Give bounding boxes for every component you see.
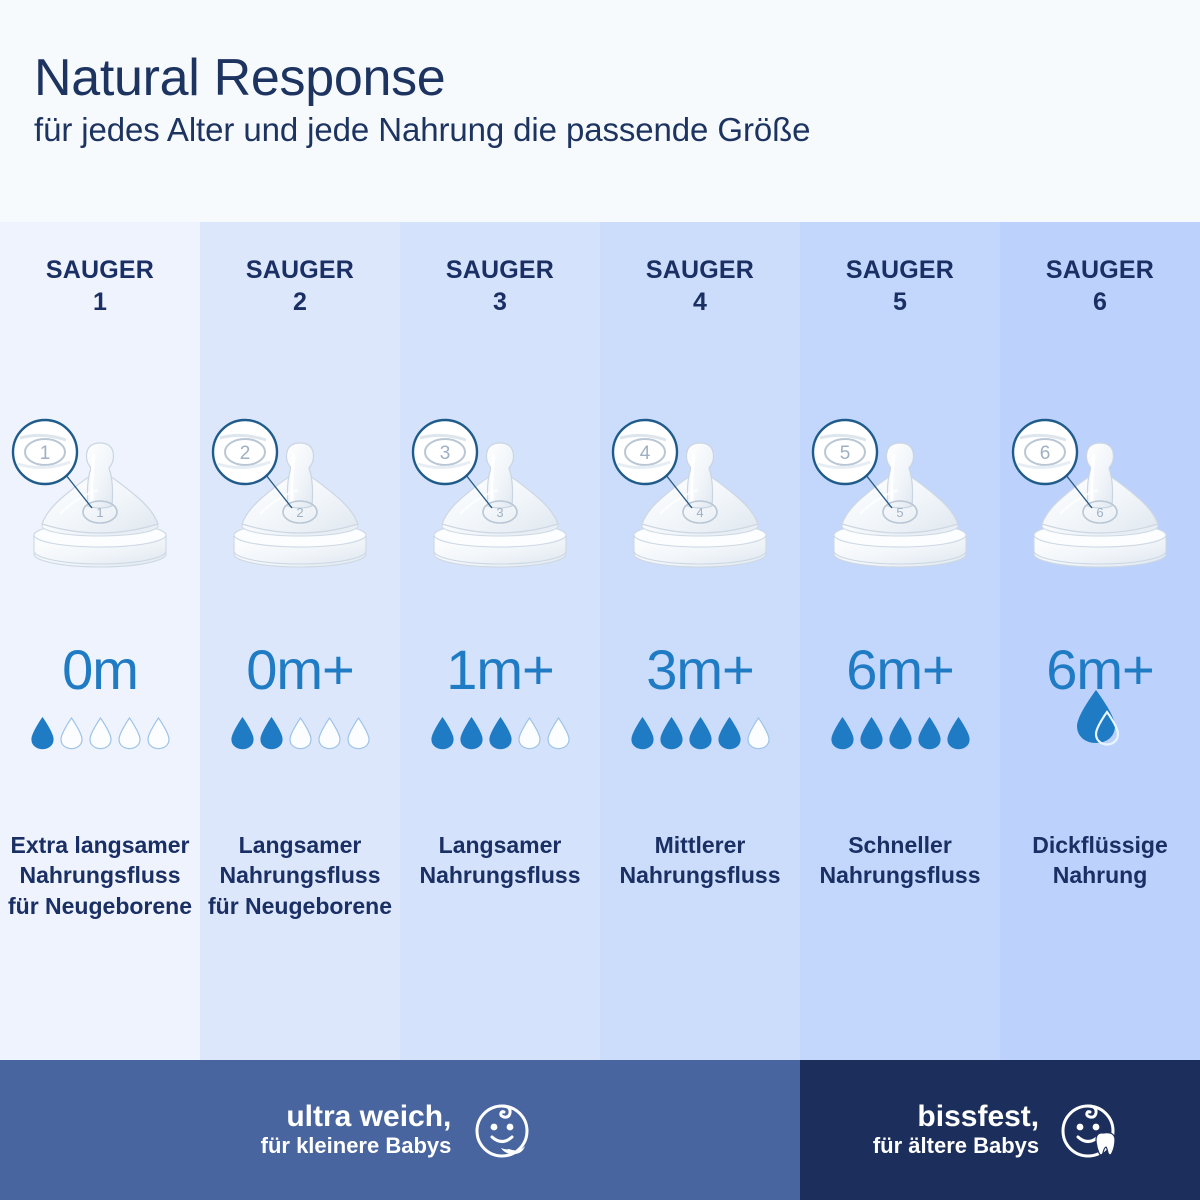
column-header-label: SAUGER [446, 256, 554, 284]
page-header: Natural Response für jedes Alter und jed… [0, 0, 1200, 222]
teat-column-5[interactable]: SAUGER 5 5 [800, 222, 1000, 1060]
svg-text:1: 1 [40, 443, 51, 464]
teat-illustration-svg: 3 3 [400, 402, 600, 582]
column-description: Mittlerer Nahrungsfluss [606, 830, 794, 891]
column-header-number: 3 [446, 286, 554, 318]
age-block-1: 0m [0, 642, 200, 750]
footer-left-main: ultra weich, [261, 1101, 452, 1133]
column-header-label: SAUGER [846, 256, 954, 284]
drop-filled-icon [258, 716, 285, 750]
drop-filled-icon [687, 716, 714, 750]
teat-image-2: 2 2 [200, 402, 400, 582]
drop-filled-icon [716, 716, 743, 750]
footer-right-sub: für ältere Babys [873, 1133, 1039, 1159]
svg-text:1: 1 [96, 505, 103, 520]
footer-panel-firm: bissfest, für ältere Babys [800, 1060, 1200, 1200]
baby-face-icon [465, 1093, 539, 1167]
column-header-4: SAUGER 4 [646, 254, 754, 318]
column-description: Schneller Nahrungsfluss [806, 830, 994, 891]
age-label: 3m+ [600, 642, 800, 698]
drop-filled-icon [487, 716, 514, 750]
drop-filled-icon [458, 716, 485, 750]
svg-text:4: 4 [696, 505, 703, 520]
drop-empty-icon [58, 716, 85, 750]
page-subtitle: für jedes Alter und jede Nahrung die pas… [34, 111, 1200, 149]
column-header-5: SAUGER 5 [846, 254, 954, 318]
svg-text:5: 5 [840, 443, 851, 464]
teat-illustration-svg: 5 5 [800, 402, 1000, 582]
teat-size-columns: SAUGER 1 1 [0, 222, 1200, 1060]
svg-text:2: 2 [240, 443, 251, 464]
column-header-number: 5 [846, 286, 954, 318]
column-header-label: SAUGER [1046, 256, 1154, 284]
svg-text:6: 6 [1040, 443, 1051, 464]
age-block-2: 0m+ [200, 642, 400, 750]
teat-column-4[interactable]: SAUGER 4 4 [600, 222, 800, 1060]
column-description: Langsamer Nahrungsfluss [406, 830, 594, 891]
column-header-number: 4 [646, 286, 754, 318]
drop-filled-icon [29, 716, 56, 750]
footer-panel-soft: ultra weich, für kleinere Babys [0, 1060, 800, 1200]
column-header-6: SAUGER 6 [1046, 254, 1154, 318]
age-block-6: 6m+ [1000, 642, 1200, 750]
teat-image-4: 4 4 [600, 402, 800, 582]
teat-column-6[interactable]: SAUGER 6 6 [1000, 222, 1200, 1060]
footer-left-text: ultra weich, für kleinere Babys [261, 1101, 452, 1159]
drop-empty-icon [145, 716, 172, 750]
footer-left-sub: für kleinere Babys [261, 1133, 452, 1159]
teat-illustration-svg: 1 1 [0, 402, 200, 582]
flow-rate-drops [1000, 712, 1200, 750]
teat-illustration-svg: 6 6 [1000, 402, 1200, 582]
teat-column-2[interactable]: SAUGER 2 2 [200, 222, 400, 1060]
footer-right-text: bissfest, für ältere Babys [873, 1101, 1039, 1159]
page-footer: ultra weich, für kleinere Babys bissfest… [0, 1060, 1200, 1200]
teat-image-3: 3 3 [400, 402, 600, 582]
drop-filled-icon [429, 716, 456, 750]
svg-text:2: 2 [296, 505, 303, 520]
column-description: Dickflüssige Nahrung [1006, 830, 1194, 891]
column-header-2: SAUGER 2 [246, 254, 354, 318]
column-description: Extra langsamer Nahrungsfluss für Neugeb… [6, 830, 194, 921]
flow-rate-drops [800, 712, 1000, 750]
drop-filled-icon [229, 716, 256, 750]
column-header-3: SAUGER 3 [446, 254, 554, 318]
age-block-3: 1m+ [400, 642, 600, 750]
drop-filled-icon [887, 716, 914, 750]
column-header-label: SAUGER [246, 256, 354, 284]
infographic-page: Natural Response für jedes Alter und jed… [0, 0, 1200, 1200]
drop-filled-icon [916, 716, 943, 750]
baby-face-tooth-icon [1053, 1093, 1127, 1167]
column-header-number: 1 [46, 286, 154, 318]
column-header-number: 2 [246, 286, 354, 318]
drop-empty-icon [345, 716, 372, 750]
drop-empty-icon [116, 716, 143, 750]
teat-column-1[interactable]: SAUGER 1 1 [0, 222, 200, 1060]
flow-rate-drops [200, 712, 400, 750]
teat-illustration-svg: 4 4 [600, 402, 800, 582]
teat-image-5: 5 5 [800, 402, 1000, 582]
flow-rate-drops [600, 712, 800, 750]
svg-text:4: 4 [640, 443, 651, 464]
drop-filled-icon [658, 716, 685, 750]
flow-rate-drops [400, 712, 600, 750]
drop-empty-icon [516, 716, 543, 750]
age-label: 6m+ [800, 642, 1000, 698]
drop-filled-icon [629, 716, 656, 750]
drop-filled-icon [829, 716, 856, 750]
drop-empty-icon [316, 716, 343, 750]
column-header-1: SAUGER 1 [46, 254, 154, 318]
age-block-5: 6m+ [800, 642, 1000, 750]
footer-right-main: bissfest, [873, 1101, 1039, 1133]
age-label: 0m+ [200, 642, 400, 698]
flow-rate-drops [0, 712, 200, 750]
age-label: 1m+ [400, 642, 600, 698]
drop-filled-icon [858, 716, 885, 750]
age-label: 0m [0, 642, 200, 698]
teat-image-6: 6 6 [1000, 402, 1200, 582]
svg-text:5: 5 [896, 505, 903, 520]
column-header-number: 6 [1046, 286, 1154, 318]
teat-illustration-svg: 2 2 [200, 402, 400, 582]
svg-text:6: 6 [1096, 505, 1103, 520]
drop-empty-icon [545, 716, 572, 750]
svg-text:3: 3 [496, 505, 503, 520]
age-block-4: 3m+ [600, 642, 800, 750]
page-title: Natural Response [34, 52, 1200, 105]
column-header-label: SAUGER [646, 256, 754, 284]
column-header-label: SAUGER [46, 256, 154, 284]
teat-column-3[interactable]: SAUGER 3 3 [400, 222, 600, 1060]
svg-text:3: 3 [440, 443, 451, 464]
drop-empty-icon [87, 716, 114, 750]
drop-filled-icon [945, 716, 972, 750]
teat-image-1: 1 1 [0, 402, 200, 582]
column-description: Langsamer Nahrungsfluss für Neugeborene [206, 830, 394, 921]
drop-empty-icon [287, 716, 314, 750]
drop-thick-liquid-icon [1072, 688, 1128, 750]
drop-empty-icon [745, 716, 772, 750]
